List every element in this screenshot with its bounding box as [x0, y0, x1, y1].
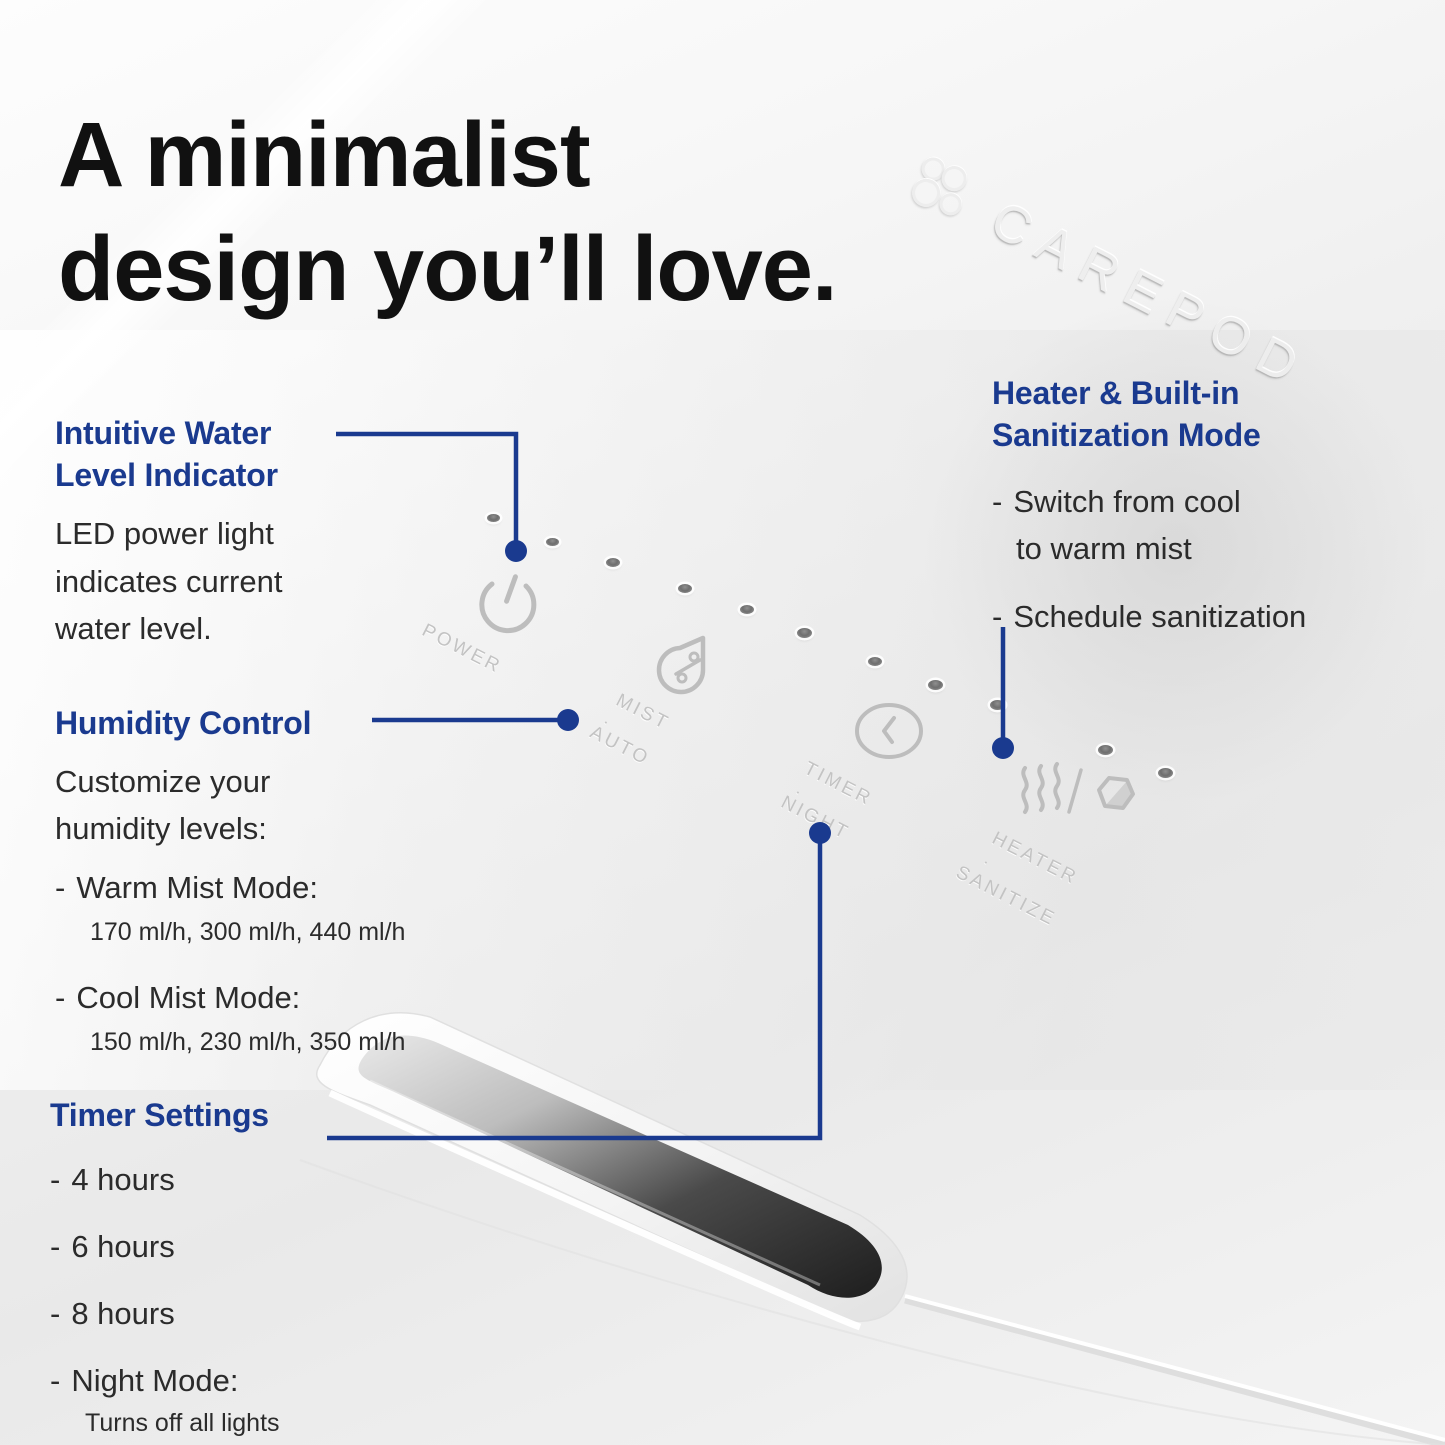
headline-line-2: design you’ll love.: [58, 212, 1008, 326]
list-label-cont: to warm mist: [1016, 525, 1412, 572]
list-label: 6 hours: [71, 1225, 174, 1270]
led-dot: [1098, 745, 1113, 755]
list-label: Warm Mist Mode:: [76, 866, 318, 911]
list-label: Switch from cool: [1013, 480, 1240, 525]
list-dash: -: [50, 1225, 60, 1270]
list-label: Schedule sanitization: [1013, 595, 1306, 640]
list-item: - 4 hours: [50, 1158, 410, 1203]
intro-line-2: humidity levels:: [55, 805, 485, 852]
callout-humidity-intro: Customize your humidity levels:: [55, 758, 485, 852]
intro-line-1: Customize your: [55, 758, 485, 805]
callout-water-level-title: Intuitive Water Level Indicator: [55, 412, 385, 496]
callout-timer-settings: Timer Settings - 4 hours - 6 hours - 8 h…: [50, 1094, 410, 1441]
callout-heater-title: Heater & Built-in Sanitization Mode: [992, 372, 1412, 456]
list-dash: -: [55, 866, 65, 911]
callout-humidity-control: Humidity Control Customize your humidity…: [55, 702, 485, 1060]
list-detail: Turns off all lights: [85, 1406, 410, 1441]
list-label: Cool Mist Mode:: [76, 976, 300, 1021]
title-line-1: Heater & Built-in: [992, 372, 1412, 414]
led-dot: [1158, 768, 1173, 778]
list-dash: -: [55, 976, 65, 1021]
led-dot: [797, 628, 812, 638]
list-detail: 170 ml/h, 300 ml/h, 440 ml/h: [90, 915, 485, 950]
list-label: 8 hours: [71, 1292, 174, 1337]
list-item: - 6 hours: [50, 1225, 410, 1270]
list-dash: -: [50, 1292, 60, 1337]
list-item: - Switch from cool: [992, 480, 1412, 525]
list-detail: 150 ml/h, 230 ml/h, 350 ml/h: [90, 1025, 485, 1060]
title-line-1: Intuitive Water: [55, 412, 385, 454]
led-dot: [546, 538, 559, 546]
list-dash: -: [50, 1158, 60, 1203]
page-title: A minimalist design you’ll love.: [58, 98, 1008, 326]
callout-water-level: Intuitive Water Level Indicator LED powe…: [55, 412, 385, 652]
led-dot: [868, 657, 882, 666]
list-item: - Warm Mist Mode:: [55, 866, 485, 911]
led-dot: [928, 680, 943, 690]
title-line-2: Sanitization Mode: [992, 414, 1412, 456]
list-item: - Schedule sanitization: [992, 595, 1412, 640]
product-infographic: CAREPOD: [0, 0, 1445, 1445]
led-dot: [740, 605, 754, 614]
led-dot: [990, 700, 1005, 710]
callout-heater-sanitization: Heater & Built-in Sanitization Mode - Sw…: [992, 372, 1412, 639]
body-line-2: indicates current: [55, 558, 385, 605]
headline-line-1: A minimalist: [58, 98, 1008, 212]
list-dash: -: [992, 595, 1002, 640]
list-item: - Cool Mist Mode:: [55, 976, 485, 1021]
title-line-2: Level Indicator: [55, 454, 385, 496]
body-line-3: water level.: [55, 605, 385, 652]
led-dot: [606, 558, 620, 567]
list-label: 4 hours: [71, 1158, 174, 1203]
callout-timer-title: Timer Settings: [50, 1094, 410, 1136]
list-dash: -: [992, 480, 1002, 525]
list-dash: -: [50, 1359, 60, 1404]
list-item: - Night Mode:: [50, 1359, 410, 1404]
callout-humidity-title: Humidity Control: [55, 702, 485, 744]
body-line-1: LED power light: [55, 510, 385, 557]
led-dot: [678, 584, 692, 593]
list-label: Night Mode:: [71, 1359, 238, 1404]
list-item: - 8 hours: [50, 1292, 410, 1337]
callout-water-level-body: LED power light indicates current water …: [55, 510, 385, 651]
led-dot: [487, 514, 500, 522]
